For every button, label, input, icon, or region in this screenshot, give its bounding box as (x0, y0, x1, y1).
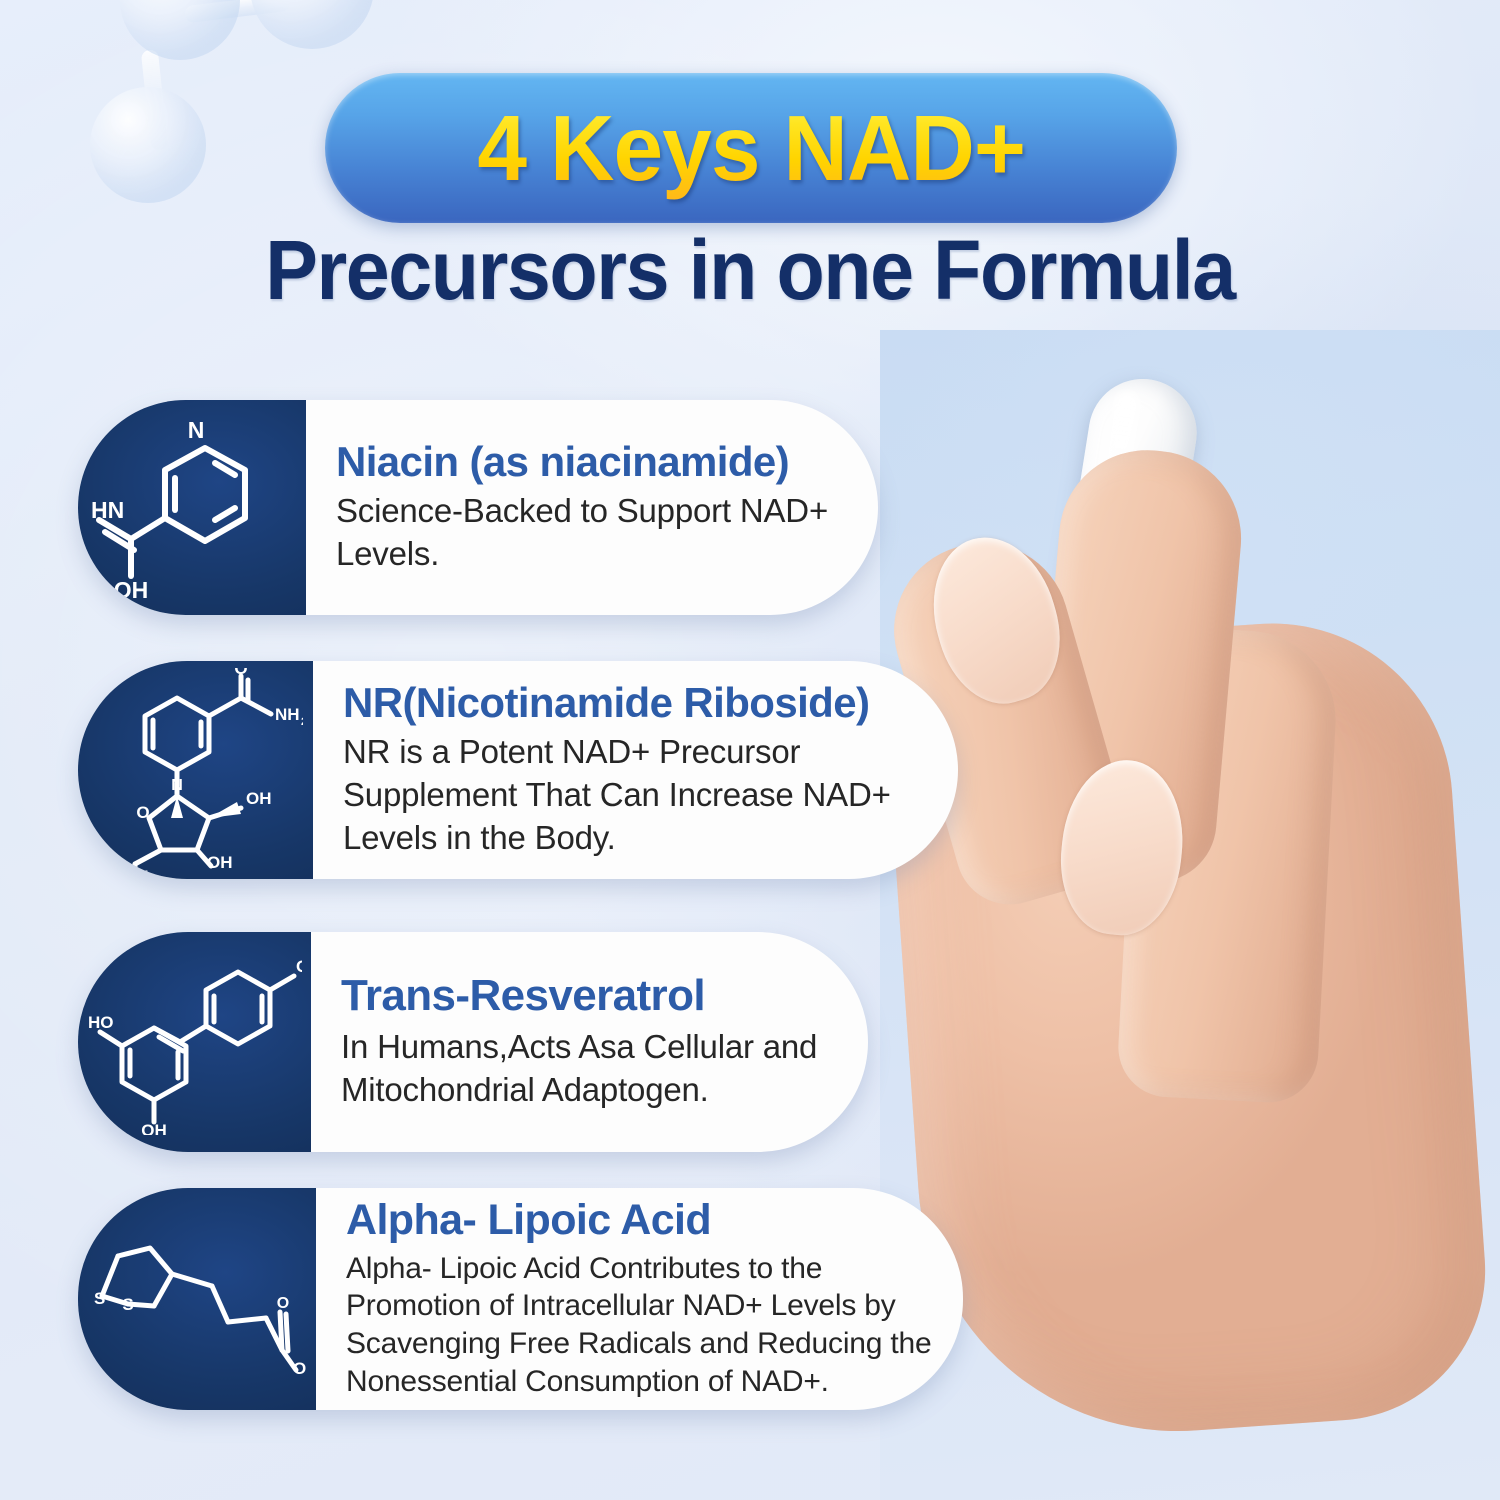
card-title: Niacin (as niacinamide) (336, 439, 852, 484)
svg-text:O: O (234, 668, 247, 678)
svg-text:HO: HO (88, 1013, 114, 1032)
card-icon-panel: O NH O N OH OH OH 2 (78, 661, 313, 879)
card-text-block: NR(Nicotinamide Riboside) NR is a Potent… (313, 661, 958, 879)
svg-text:2: 2 (301, 716, 303, 728)
card-icon-panel: OH HO OH (78, 932, 311, 1152)
svg-text:N: N (188, 417, 205, 443)
page-title: 4 Keys NAD+ (477, 95, 1025, 202)
svg-text:OH: OH (296, 957, 302, 976)
card-description: In Humans,Acts Asa Cellular and Mitochon… (341, 1026, 842, 1112)
svg-text:OH: OH (123, 867, 149, 873)
alpha-lipoic-acid-molecule-icon: S S O OH (88, 1224, 306, 1374)
niacinamide-molecule-icon: N HN OH (87, 408, 297, 608)
svg-text:OH: OH (207, 853, 233, 872)
svg-text:O: O (136, 803, 149, 822)
card-title: Alpha- Lipoic Acid (346, 1197, 937, 1243)
page-subtitle: Precursors in one Formula (45, 222, 1455, 319)
svg-text:HN: HN (91, 497, 124, 523)
ingredient-card-trans-resveratrol[interactable]: OH HO OH Trans-Resveratrol In Humans,Act… (78, 932, 868, 1152)
nicotinamide-riboside-molecule-icon: O NH O N OH OH OH 2 (89, 668, 303, 873)
svg-text:NH: NH (275, 705, 300, 724)
card-description: NR is a Potent NAD+ Precursor Supplement… (343, 731, 932, 860)
resveratrol-molecule-icon: OH HO OH (88, 950, 302, 1135)
svg-text:OH: OH (293, 1359, 306, 1374)
card-icon-panel: N HN OH (78, 400, 306, 615)
svg-text:O: O (277, 1295, 289, 1312)
card-description: Science-Backed to Support NAD+ Levels. (336, 490, 852, 576)
svg-text:OH: OH (114, 577, 149, 603)
ingredient-card-niacin[interactable]: N HN OH Niacin (as niacinamide) Science-… (78, 400, 878, 615)
card-text-block: Alpha- Lipoic Acid Alpha- Lipoic Acid Co… (316, 1188, 963, 1410)
card-title: NR(Nicotinamide Riboside) (343, 680, 932, 725)
svg-text:OH: OH (141, 1121, 167, 1135)
card-text-block: Trans-Resveratrol In Humans,Acts Asa Cel… (311, 932, 868, 1152)
card-text-block: Niacin (as niacinamide) Science-Backed t… (306, 400, 878, 615)
svg-text:N: N (171, 777, 183, 794)
card-icon-panel: S S O OH (78, 1188, 316, 1410)
title-banner: 4 Keys NAD+ (325, 73, 1177, 223)
card-description: Alpha- Lipoic Acid Contributes to the Pr… (346, 1250, 937, 1401)
ingredient-card-nicotinamide-riboside[interactable]: O NH O N OH OH OH 2 NR(Nicotinamide Ribo… (78, 661, 958, 879)
card-title: Trans-Resveratrol (341, 972, 842, 1020)
svg-text:S: S (94, 1289, 105, 1308)
svg-text:S: S (122, 1295, 133, 1314)
ingredient-card-alpha-lipoic-acid[interactable]: S S O OH Alpha- Lipoic Acid Alpha- Lipoi… (78, 1188, 963, 1410)
svg-text:OH: OH (246, 789, 272, 808)
